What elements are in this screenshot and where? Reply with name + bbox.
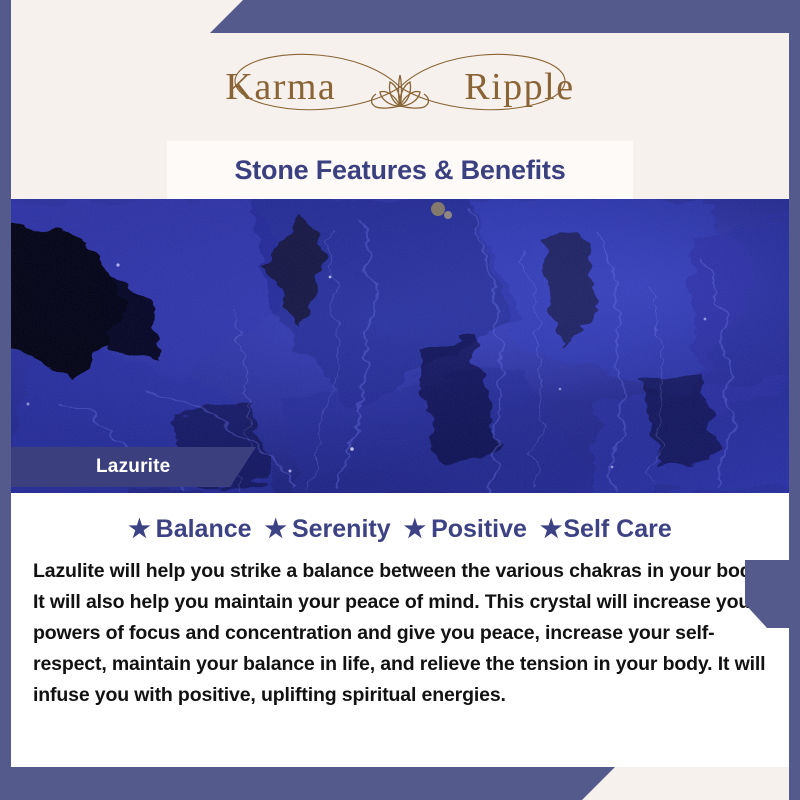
page-panel: Karma Ripple Stone Features & Benefits	[11, 33, 789, 767]
keyword-label: Serenity	[292, 515, 391, 544]
keyword-item-balance: ★ Balance	[128, 515, 251, 544]
frame-right-border	[789, 0, 800, 800]
stone-name: Lazurite	[11, 456, 170, 478]
frame-bottom-left-banner	[0, 767, 615, 800]
title-box: Stone Features & Benefits	[167, 141, 633, 199]
star-icon: ★	[265, 517, 287, 542]
stone-info-card: Karma Ripple Stone Features & Benefits	[0, 0, 800, 800]
lotus-flower-icon	[372, 75, 429, 108]
title-band: Stone Features & Benefits	[11, 141, 789, 199]
star-icon: ★	[540, 517, 562, 542]
star-icon: ★	[128, 517, 150, 542]
keyword-item-self-care: ★ Self Care	[540, 515, 672, 544]
brand-name-left: Karma	[225, 65, 336, 109]
star-icon: ★	[404, 517, 426, 542]
keyword-label: Positive	[431, 515, 527, 544]
keyword-label: Self Care	[563, 515, 671, 544]
frame-top-right-banner	[210, 0, 800, 33]
keyword-item-serenity: ★ Serenity	[265, 515, 391, 544]
brand-name-right: Ripple	[464, 65, 574, 109]
keyword-item-positive: ★ Positive	[404, 515, 527, 544]
stone-name-banner: Lazurite	[11, 447, 256, 487]
keyword-label: Balance	[156, 515, 252, 544]
stone-description: Lazulite will help you strike a balance …	[25, 556, 775, 711]
keyword-list: ★ Balance ★ Serenity ★ Positive ★ Self C…	[25, 493, 775, 550]
frame-left-border	[0, 0, 11, 800]
brand-header: Karma Ripple	[11, 41, 789, 133]
content-panel: ★ Balance ★ Serenity ★ Positive ★ Self C…	[11, 493, 789, 767]
page-title: Stone Features & Benefits	[234, 155, 565, 186]
